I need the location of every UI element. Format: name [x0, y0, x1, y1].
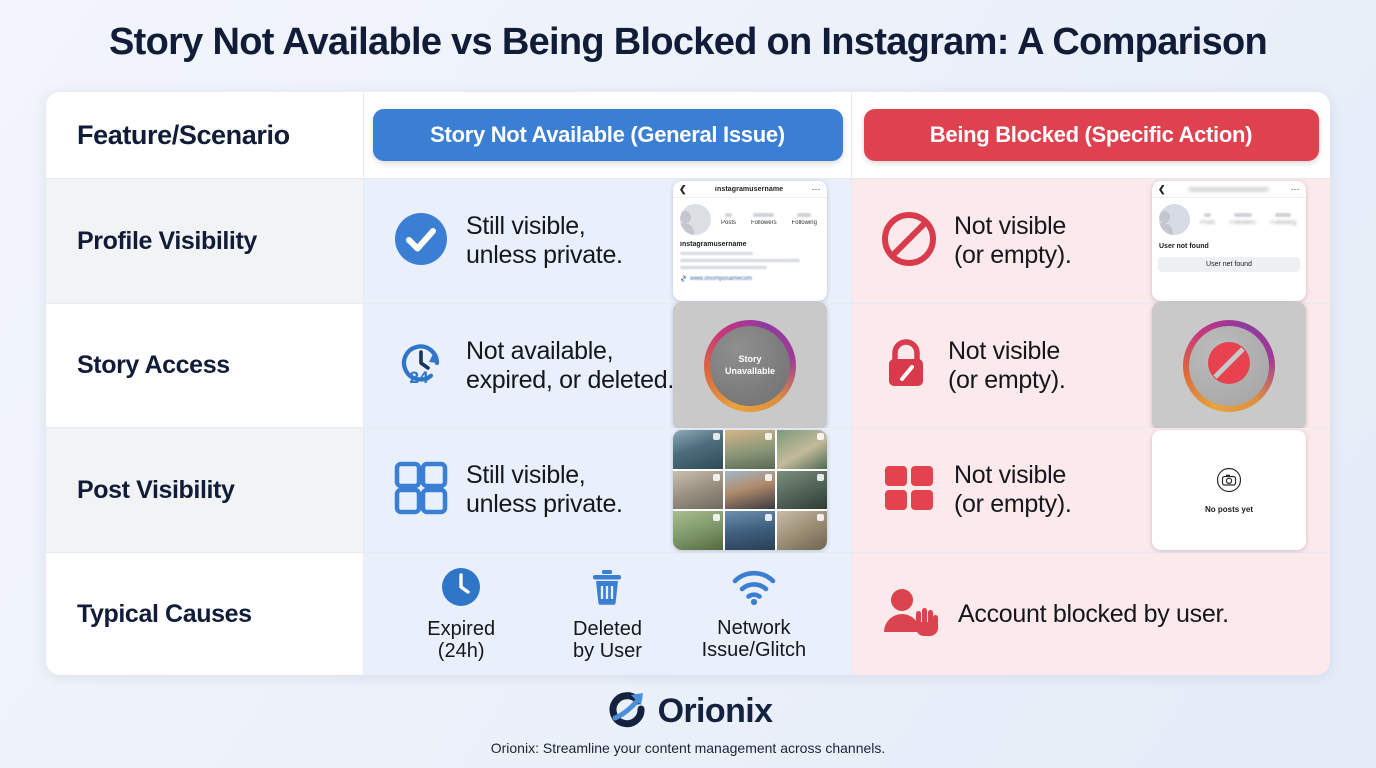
camera-icon	[1216, 467, 1242, 498]
cell-red-typical-causes: Account blocked by user.	[852, 553, 1330, 675]
cell-text-line2: unless private.	[466, 490, 623, 519]
cell-blue-story-access: 24 Not available, expired, or deleted. S…	[364, 304, 852, 427]
orionix-arrow-logo	[604, 687, 648, 736]
link-icon	[680, 275, 687, 282]
cell-text-line1: Account blocked by user.	[958, 600, 1229, 629]
cell-text-line1: Still visible,	[466, 461, 623, 490]
cell-blue-post-visibility: Still visible, unless private.	[364, 428, 852, 552]
page-title: Story Not Available vs Being Blocked on …	[0, 0, 1376, 64]
mock-profile-username: instagramusername	[680, 241, 820, 248]
comparison-table: Feature/Scenario Story Not Available (Ge…	[46, 92, 1330, 675]
mock-instagram-profile-visible: ❮ instagramusername ⋯ Posts	[673, 181, 827, 301]
mock-instagram-profile-blocked: ❮ ⋯ Posts Followers Following User not f…	[1152, 181, 1306, 301]
cell-text-line2: expired, or deleted.	[466, 366, 674, 395]
header-red-cell: Being Blocked (Specific Action)	[852, 92, 1330, 178]
wifi-icon	[731, 567, 777, 612]
trash-icon	[586, 566, 628, 613]
ellipsis-icon: ⋯	[812, 184, 822, 195]
row-label-cell: Typical Causes	[46, 553, 364, 675]
story-unavailable-line1: Story	[738, 354, 761, 365]
story-unavailable-line2: Unavallable	[725, 366, 775, 377]
cell-text-line2: (or empty).	[948, 366, 1066, 395]
header-blue-cell: Story Not Available (General Issue)	[364, 92, 852, 178]
ellipsis-icon: ⋯	[1291, 184, 1301, 195]
story-ring: Story Unavallable	[704, 320, 796, 412]
prohibited-icon	[880, 210, 938, 273]
mock-profile-link[interactable]: www.oriomposamecom	[690, 276, 752, 282]
mock-user-not-found-label: User not found	[1159, 243, 1299, 250]
mock-post-grid	[673, 430, 827, 550]
check-circle-icon	[392, 210, 450, 273]
cell-blue-typical-causes: Expired (24h)	[364, 553, 852, 675]
chevron-left-icon: ❮	[679, 184, 687, 195]
cause-expired: Expired (24h)	[389, 566, 534, 663]
row-label-profile-visibility: Profile Visibility	[77, 227, 257, 256]
footer: Orionix Orionix: Streamline your content…	[0, 687, 1376, 756]
cell-red-post-visibility: Not visible (or empty). No posts yet	[852, 428, 1330, 552]
grid-outline-icon	[392, 459, 450, 522]
chevron-left-icon: ❮	[1158, 184, 1166, 195]
cell-red-story-access: Not visible (or empty).	[852, 304, 1330, 427]
cause-deleted: Deleted by User	[535, 566, 680, 663]
row-label-cell: Story Access	[46, 304, 364, 427]
cell-text-line1: Not visible	[948, 337, 1066, 366]
stat-following: Following	[792, 213, 817, 226]
cause-label-line1: Deleted	[573, 618, 642, 640]
cause-label-line1: Network	[702, 617, 806, 639]
cell-blue-profile-visibility: Still visible, unless private. ❮ instagr…	[364, 179, 852, 303]
table-row: Profile Visibility Still visible, unless…	[46, 179, 1330, 304]
stat-label: Posts	[721, 220, 736, 226]
mock-profile-name: instagramusername	[691, 186, 808, 193]
lock-icon	[880, 334, 932, 397]
row-label-typical-causes: Typical Causes	[77, 600, 252, 629]
header-pill-being-blocked[interactable]: Being Blocked (Specific Action)	[864, 109, 1319, 161]
clock-icon	[440, 566, 482, 613]
header-pill-story-not-available[interactable]: Story Not Available (General Issue)	[373, 109, 843, 161]
stat-label: Following	[792, 220, 817, 226]
story-ring	[1183, 320, 1275, 412]
cell-text-line1: Not visible	[954, 461, 1072, 490]
no-posts-label: No posts yet	[1205, 505, 1253, 514]
cell-text-line2: unless private.	[466, 241, 623, 270]
clock-24h-icon: 24	[392, 334, 450, 397]
table-header-row: Feature/Scenario Story Not Available (Ge…	[46, 92, 1330, 179]
stat-followers: Followers	[751, 213, 777, 226]
table-row: Story Access 24 Not available, expired, …	[46, 304, 1330, 428]
table-row: Post Visibility Still visible, unless pr…	[46, 428, 1330, 553]
mock-no-posts: No posts yet	[1152, 430, 1306, 550]
header-feature-label: Feature/Scenario	[77, 120, 290, 151]
table-row: Typical Causes Expired (24h)	[46, 553, 1330, 675]
mock-story-unavailable: Story Unavallable	[673, 302, 827, 430]
cell-red-profile-visibility: Not visible (or empty). ❮ ⋯ Posts Follow…	[852, 179, 1330, 303]
stat-label: Following	[1271, 220, 1296, 226]
svg-text:24: 24	[410, 368, 429, 387]
user-blocked-icon	[880, 584, 942, 645]
mock-user-not-found-button[interactable]: User net found	[1158, 257, 1300, 272]
cell-text-line2: (or empty).	[954, 241, 1072, 270]
cause-label-line1: Expired	[427, 618, 495, 640]
cell-text-line1: Not available,	[466, 337, 674, 366]
cause-label-line2: by User	[573, 640, 642, 662]
cell-text-line1: Still visible,	[466, 212, 623, 241]
cause-label-line2: Issue/Glitch	[702, 639, 806, 661]
row-label-cell: Profile Visibility	[46, 179, 364, 303]
stat-label: Followers	[751, 220, 777, 226]
brand-name: Orionix	[658, 692, 773, 731]
avatar	[680, 204, 711, 235]
cell-text-line1: Not visible	[954, 212, 1072, 241]
stat-label: Followers	[1230, 220, 1256, 226]
cause-label-line2: (24h)	[427, 640, 495, 662]
cell-text-line2: (or empty).	[954, 490, 1072, 519]
row-label-cell: Post Visibility	[46, 428, 364, 552]
stat-posts: Posts	[721, 213, 736, 226]
row-label-story-access: Story Access	[77, 351, 230, 380]
header-feature-cell: Feature/Scenario	[46, 92, 364, 178]
cause-network: Network Issue/Glitch	[681, 567, 826, 662]
footer-tagline: Orionix: Streamline your content managem…	[0, 740, 1376, 756]
row-label-post-visibility: Post Visibility	[77, 476, 234, 505]
mock-story-blocked	[1152, 302, 1306, 430]
stat-label: Posts	[1200, 220, 1215, 226]
grid-solid-icon	[880, 459, 938, 522]
blocked-circle-icon	[1206, 340, 1252, 391]
